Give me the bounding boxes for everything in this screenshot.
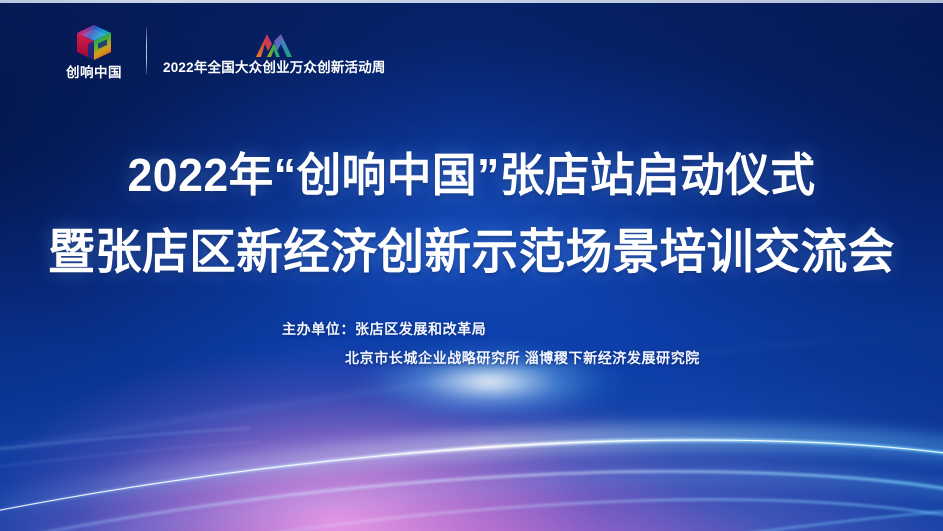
shuangchuang-peaks-icon [250,29,298,59]
shuangchuang-week-logo: 2022年全国大众创业万众创新活动周 [163,29,386,75]
organizer-line-1: 主办单位：张店区发展和改革局 [282,322,700,337]
organizer-line-2: 北京市长城企业战略研究所 淄博稷下新经济发展研究院 [345,351,700,366]
poster-title: 2022年“创响中国”张店站启动仪式 暨张店区新经济创新示范场景培训交流会 [0,150,943,279]
organizers-block: 主办单位：张店区发展和改革局 北京市长城企业战略研究所 淄博稷下新经济发展研究院 [282,322,700,365]
title-line-2: 暨张店区新经济创新示范场景培训交流会 [14,226,929,280]
chuangxiang-china-logo: 创响中国 [58,23,130,80]
shuangchuang-week-wordmark: 2022年全国大众创业万众创新活动周 [163,61,386,75]
top-edge-strip [0,0,943,3]
logo-divider [146,27,147,75]
title-line-1: 2022年“创响中国”张店站启动仪式 [14,150,929,202]
poster-canvas: 创响中国 [0,0,943,531]
chuangxiang-china-wordmark: 创响中国 [66,66,122,80]
header-logo-block: 创响中国 [58,23,386,80]
chuangxiang-cube-icon [74,23,114,63]
